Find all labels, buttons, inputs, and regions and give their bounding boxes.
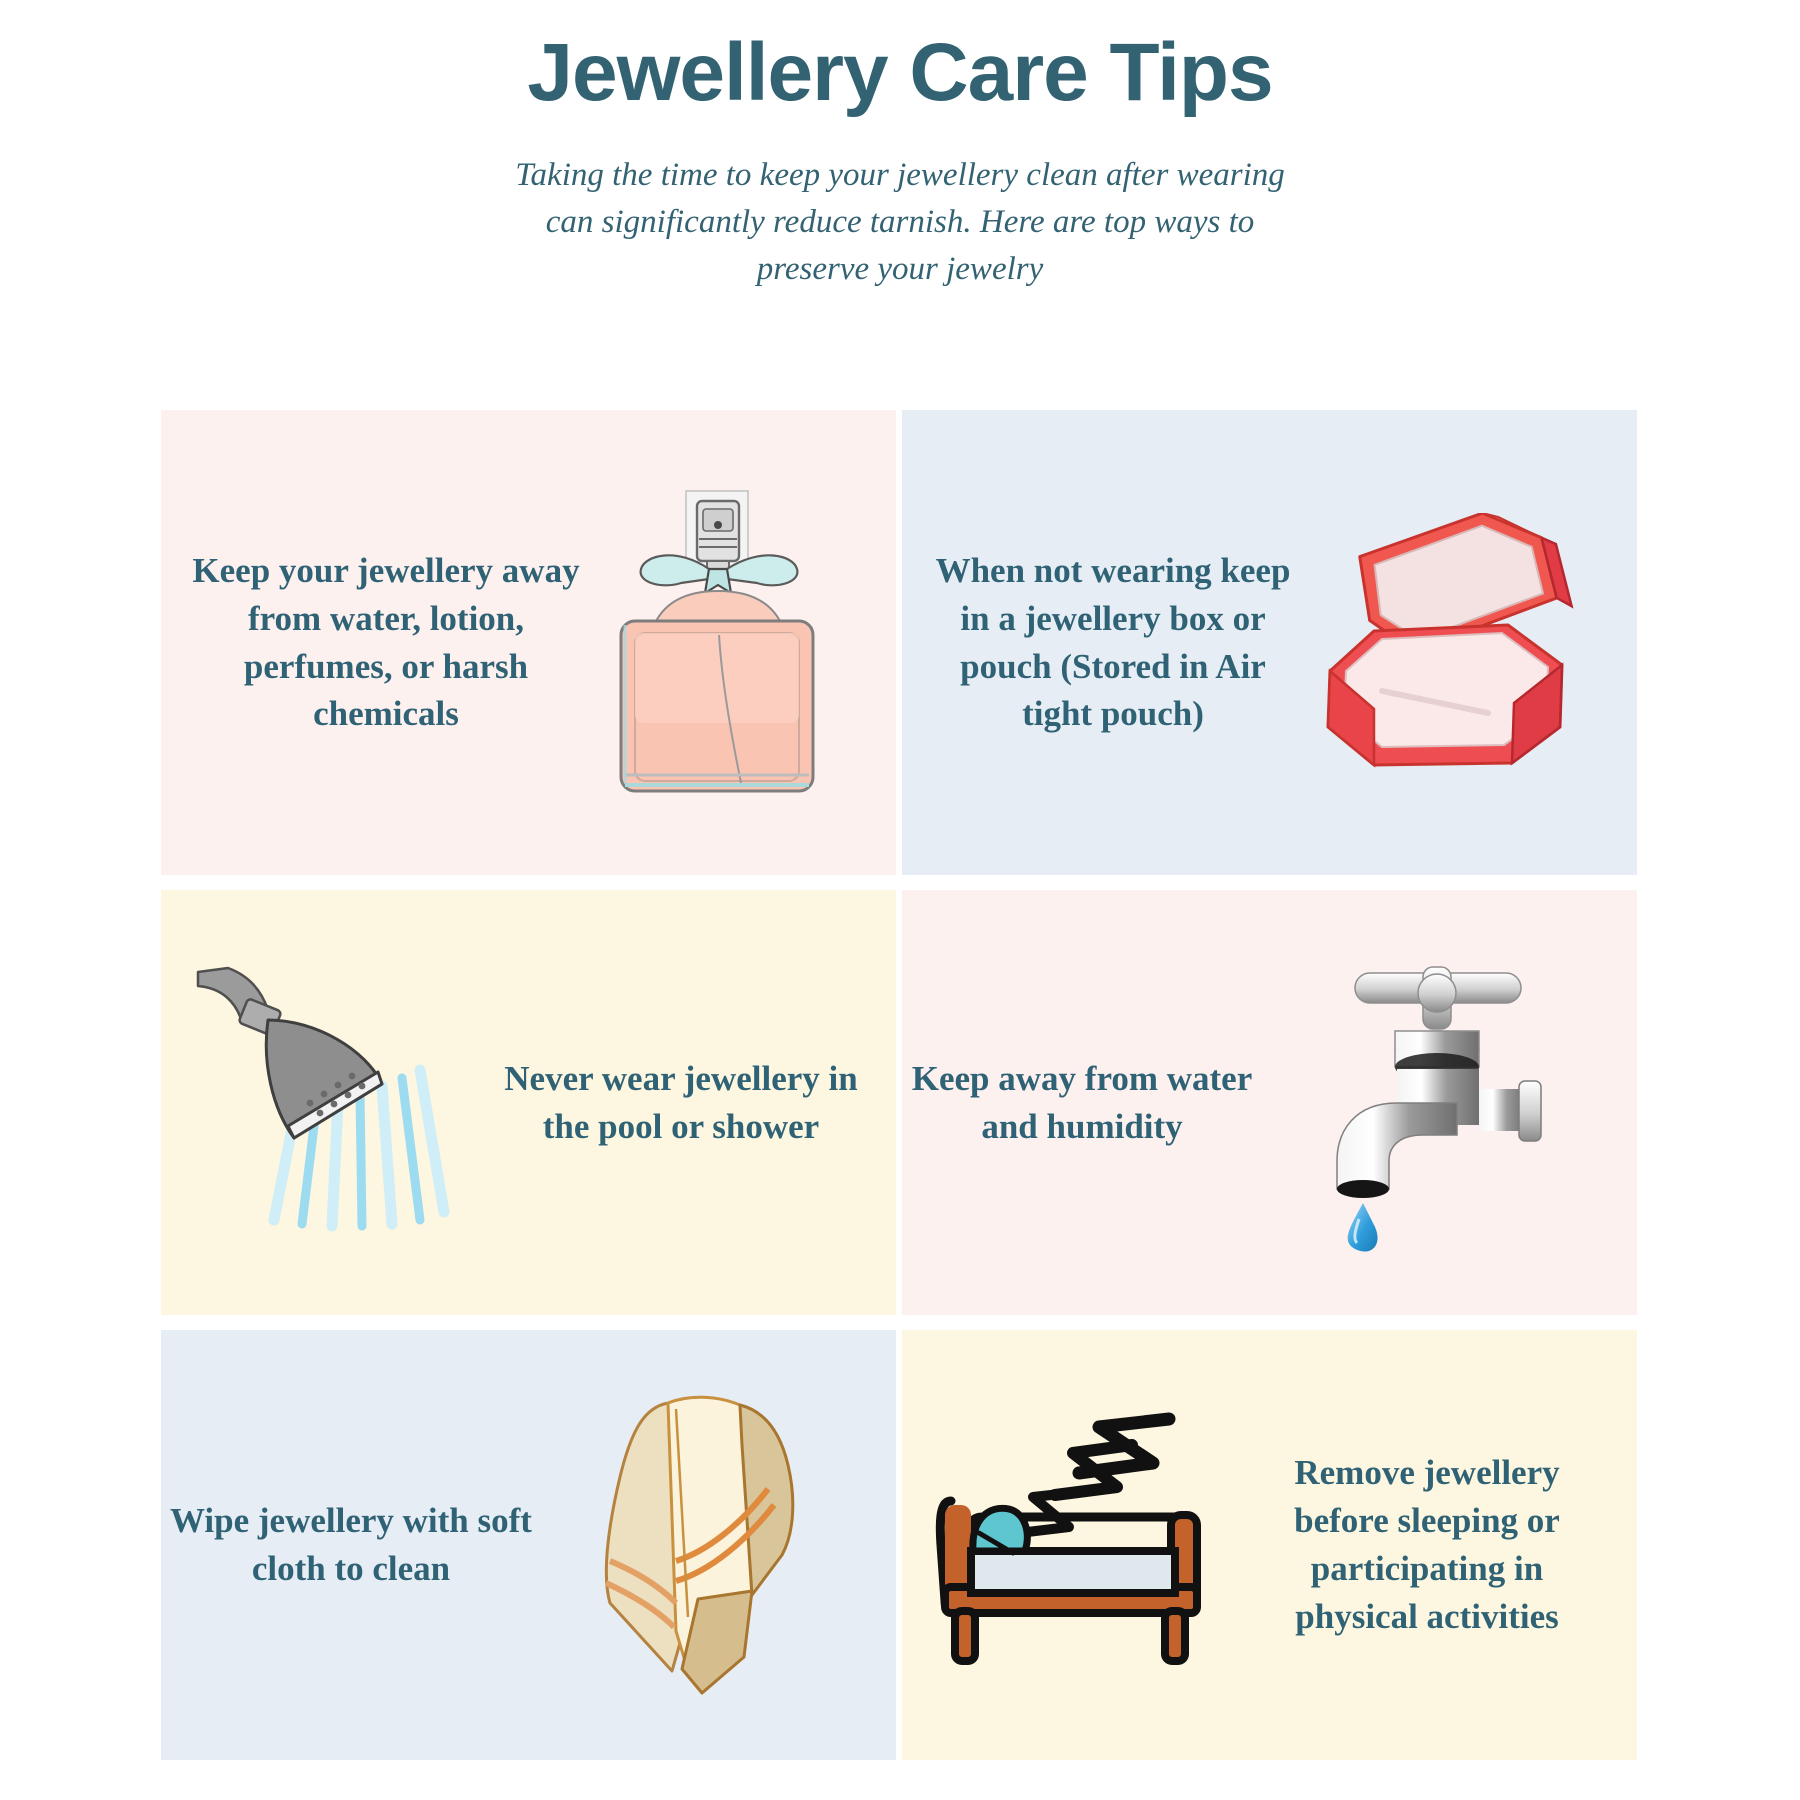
tip-card-4-text: Keep away from water and humidity (902, 1055, 1262, 1151)
tip-card-5-text: Wipe jewellery with soft cloth to clean (161, 1497, 541, 1593)
polishing-cloth-icon (541, 1385, 871, 1705)
page-subtitle: Taking the time to keep your jewellery c… (505, 152, 1295, 293)
page-title: Jewellery Care Tips (0, 28, 1800, 118)
tip-card-4[interactable]: Keep away from water and humidity (902, 890, 1637, 1315)
header: Jewellery Care Tips Taking the time to k… (0, 0, 1800, 293)
tip-card-6-text: Remove jewellery before sleeping or part… (1252, 1449, 1612, 1641)
tip-card-2[interactable]: When not wearing keep in a jewellery box… (902, 410, 1637, 875)
infographic-page: Jewellery Care Tips Taking the time to k… (0, 0, 1800, 1800)
tips-grid: Keep your jewellery away from water, lot… (161, 410, 1637, 1760)
perfume-bottle-icon (581, 483, 851, 803)
tip-card-6[interactable]: Remove jewellery before sleeping or part… (902, 1330, 1637, 1760)
jewellery-box-icon (1302, 513, 1622, 773)
tip-card-5[interactable]: Wipe jewellery with soft cloth to clean (161, 1330, 896, 1760)
shower-head-icon (161, 958, 491, 1248)
tip-card-1[interactable]: Keep your jewellery away from water, lot… (161, 410, 896, 875)
tip-card-3-text: Never wear jewellery in the pool or show… (491, 1055, 871, 1151)
tip-card-3[interactable]: Never wear jewellery in the pool or show… (161, 890, 896, 1315)
faucet-icon (1262, 953, 1612, 1253)
tip-card-2-text: When not wearing keep in a jewellery box… (902, 547, 1302, 739)
tip-card-1-text: Keep your jewellery away from water, lot… (161, 547, 581, 739)
bed-sleeping-icon (902, 1405, 1252, 1685)
